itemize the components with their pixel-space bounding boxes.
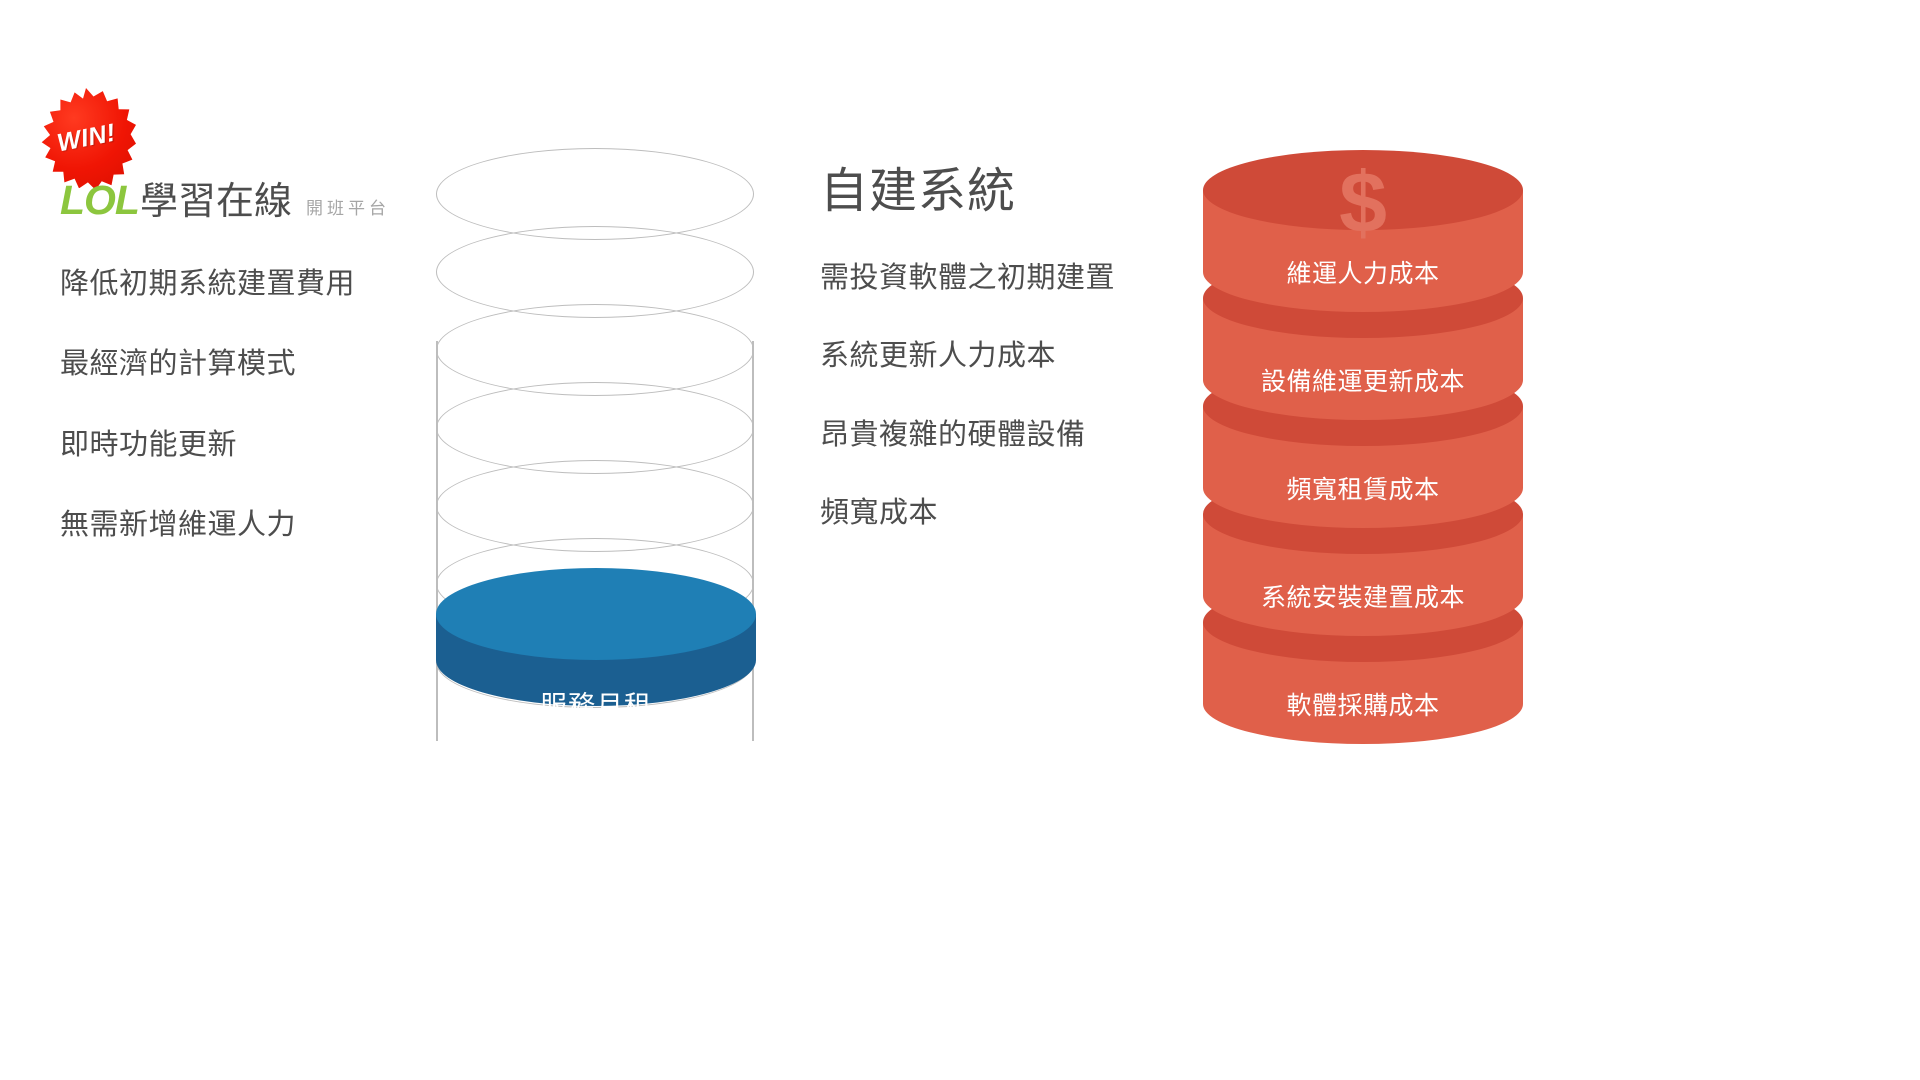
list-item: 無需新增維運人力 <box>60 507 460 543</box>
section-heading: 自建系統 <box>820 168 1220 216</box>
brand-name: 學習在線 <box>140 183 292 221</box>
cost-layer-label: 頻寬租賃成本 <box>1203 470 1523 506</box>
brand-tagline: 開班平台 <box>306 200 390 217</box>
cost-layer-label: 維運人力成本 <box>1203 254 1523 290</box>
subscription-label: 服務月租 <box>436 684 756 723</box>
list-item: 需投資軟體之初期建置 <box>820 260 1220 296</box>
list-item: 頻寬成本 <box>820 495 1220 531</box>
left-benefit-list: 降低初期系統建置費用 最經濟的計算模式 即時功能更新 無需新增維運人力 <box>60 266 460 543</box>
cylinder-top-ellipse <box>436 568 756 660</box>
left-column: LOL 學習在線 開班平台 降低初期系統建置費用 最經濟的計算模式 即時功能更新… <box>60 180 460 587</box>
list-item: 降低初期系統建置費用 <box>60 266 460 302</box>
cost-layer-label: 系統安裝建置成本 <box>1203 578 1523 614</box>
list-item: 系統更新人力成本 <box>820 338 1220 374</box>
cost-layer-label: 設備維運更新成本 <box>1203 362 1523 398</box>
middle-column: 自建系統 需投資軟體之初期建置 系統更新人力成本 昂貴複雜的硬體設備 頻寬成本 <box>820 168 1220 573</box>
infographic-canvas: WIN! LOL 學習在線 開班平台 降低初期系統建置費用 最經濟的計算模式 即… <box>0 0 1920 1080</box>
brand-logo: LOL 學習在線 開班平台 <box>60 180 460 232</box>
list-item: 昂貴複雜的硬體設備 <box>820 417 1220 453</box>
cost-stack: 軟體採購成本 系統安裝建置成本 頻寬租賃成本 設備維運更新成本 $ 維運人力成本 <box>1203 150 1523 750</box>
subscription-cylinder: 服務月租 <box>436 568 756 748</box>
list-item: 即時功能更新 <box>60 427 460 463</box>
list-item: 最經濟的計算模式 <box>60 346 460 382</box>
win-badge: WIN! <box>36 88 136 188</box>
brand-mark: LOL <box>60 180 139 221</box>
cost-layer-label: 軟體採購成本 <box>1203 686 1523 722</box>
dollar-icon: $ <box>1203 160 1523 246</box>
middle-cost-list: 需投資軟體之初期建置 系統更新人力成本 昂貴複雜的硬體設備 頻寬成本 <box>820 260 1220 531</box>
